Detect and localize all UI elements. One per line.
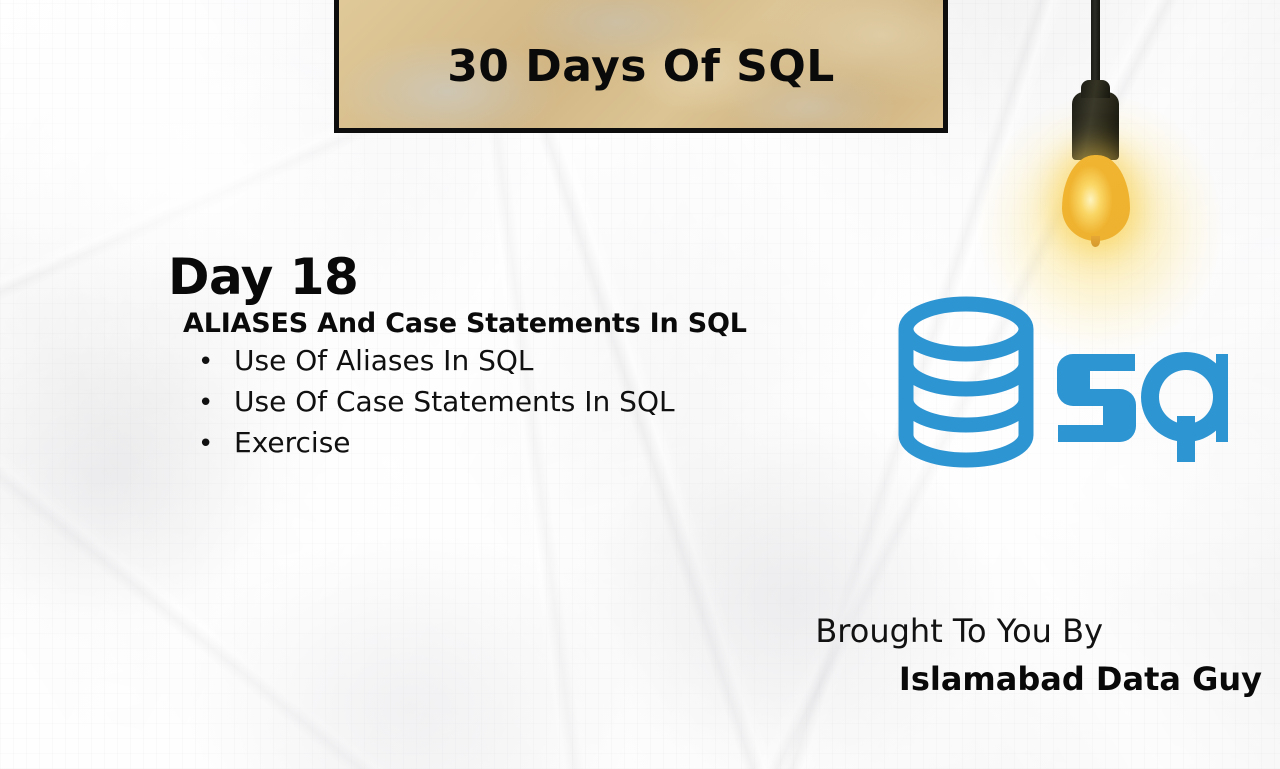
banner-title: 30 Days Of SQL xyxy=(447,41,835,92)
topic-list: • Use Of Aliases In SQL • Use Of Case St… xyxy=(198,344,675,467)
lightbulb-socket xyxy=(1072,92,1119,160)
list-item-label: Use Of Case Statements In SQL xyxy=(234,385,675,418)
bullet-icon: • xyxy=(198,431,234,457)
list-item-label: Exercise xyxy=(234,426,351,459)
list-item: • Use Of Case Statements In SQL xyxy=(198,385,675,426)
bullet-icon: • xyxy=(198,349,234,375)
footer-credit-label: Brought To You By xyxy=(700,612,1262,650)
sql-logo xyxy=(898,296,1228,468)
list-item: • Use Of Aliases In SQL xyxy=(198,344,675,385)
list-item: • Exercise xyxy=(198,426,675,467)
footer-author-name: Islamabad Data Guy xyxy=(700,660,1262,698)
database-cylinder-icon xyxy=(906,304,1026,460)
footer: Brought To You By Islamabad Data Guy xyxy=(700,612,1262,698)
title-banner: 30 Days Of SQL xyxy=(334,0,948,133)
slide-canvas: 30 Days Of SQL Day 18 ALIASES And Case S… xyxy=(0,0,1280,769)
page-title: Day 18 xyxy=(168,248,358,306)
sql-wordmark xyxy=(1057,352,1228,462)
bullet-icon: • xyxy=(198,390,234,416)
subtitle: ALIASES And Case Statements In SQL xyxy=(183,308,747,339)
list-item-label: Use Of Aliases In SQL xyxy=(234,344,534,377)
lightbulb-tip xyxy=(1091,236,1100,247)
